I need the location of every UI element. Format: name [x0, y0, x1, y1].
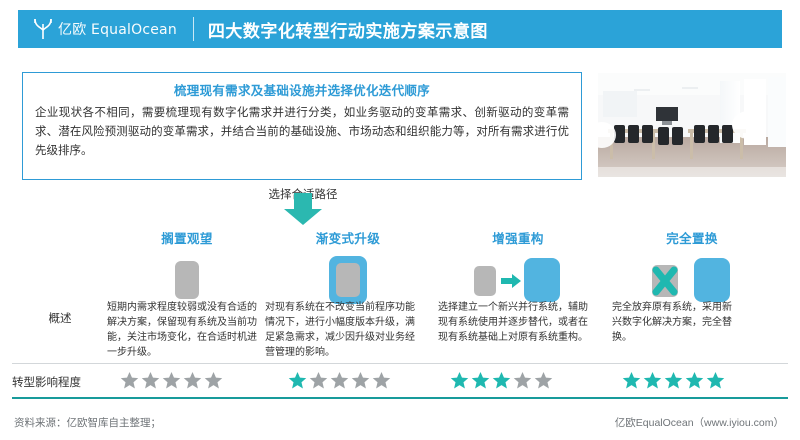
star-empty-icon — [534, 371, 553, 390]
option-title: 增强重构 — [438, 228, 598, 247]
option-column-2: 渐变式升级 — [268, 228, 428, 303]
divider-above-rating — [12, 363, 788, 364]
star-rating-4 — [622, 371, 772, 390]
intro-body: 企业现状各不相同，需要梳理现有数字化需求并进行分类，如业务驱动的变革需求、创新驱… — [35, 104, 569, 161]
star-rating-1 — [120, 371, 270, 390]
header-divider — [193, 17, 194, 41]
down-arrow-icon — [283, 193, 323, 226]
page-title: 四大数字化转型行动实施方案示意图 — [208, 17, 488, 42]
footer-source: 资料来源：亿欧智库自主整理； — [14, 415, 161, 430]
star-filled-icon — [706, 371, 725, 390]
option-column-3: 增强重构 — [438, 228, 598, 303]
grey-square-inside-blue-frame-icon — [268, 257, 428, 303]
star-filled-icon — [450, 371, 469, 390]
star-empty-icon — [204, 371, 223, 390]
option-description: 短期内需求程度较弱或没有合适的解决方案，保留现有系统及当前功能，关注市场变化，在… — [107, 300, 257, 360]
star-empty-icon — [351, 371, 370, 390]
brand-logo-text: 亿欧 EqualOcean — [58, 19, 177, 39]
star-empty-icon — [309, 371, 328, 390]
star-empty-icon — [141, 371, 160, 390]
option-title: 渐变式升级 — [268, 228, 428, 247]
star-empty-icon — [162, 371, 181, 390]
star-filled-icon — [288, 371, 307, 390]
overview-row-label: 概述 — [20, 310, 100, 326]
divider-below-rating — [12, 397, 788, 399]
option-title: 搁置观望 — [107, 228, 267, 247]
star-empty-icon — [120, 371, 139, 390]
grey-square-arrow-blue-square-icon — [438, 257, 598, 303]
rating-row-label: 转型影响程度 — [12, 374, 108, 390]
grey-square-crossed-out-blue-square-icon — [612, 257, 772, 303]
intro-title: 梳理现有需求及基础设施并选择优化迭代顺序 — [23, 80, 581, 99]
option-column-4: 完全置换 — [612, 228, 772, 303]
star-filled-icon — [471, 371, 490, 390]
star-filled-icon — [664, 371, 683, 390]
star-rating-2 — [288, 371, 438, 390]
star-empty-icon — [183, 371, 202, 390]
option-column-1: 搁置观望 — [107, 228, 267, 303]
star-rating-3 — [450, 371, 600, 390]
equalocean-tree-logo-icon — [32, 17, 54, 41]
page-header: 亿欧 EqualOcean 四大数字化转型行动实施方案示意图 — [18, 10, 782, 48]
star-filled-icon — [643, 371, 662, 390]
star-empty-icon — [330, 371, 349, 390]
grey-rounded-square-icon — [107, 257, 267, 303]
star-empty-icon — [372, 371, 391, 390]
meeting-room-photo — [598, 73, 786, 177]
option-description: 完全放弃原有系统，采用新兴数字化解决方案，完全替换。 — [612, 300, 732, 345]
star-filled-icon — [492, 371, 511, 390]
option-description: 对现有系统在不改变当前程序功能情况下，进行小幅度版本升级，满足紧急需求，减少因升… — [265, 300, 420, 360]
footer-attribution: 亿欧EqualOcean（www.iyiou.com） — [615, 415, 784, 430]
brand-logo: 亿欧 EqualOcean — [18, 17, 177, 41]
star-filled-icon — [685, 371, 704, 390]
star-filled-icon — [622, 371, 641, 390]
option-title: 完全置换 — [612, 228, 772, 247]
star-empty-icon — [513, 371, 532, 390]
option-description: 选择建立一个新兴并行系统，辅助现有系统使用并逐步替代，或者在现有系统基础上对原有… — [438, 300, 588, 345]
intro-panel: 梳理现有需求及基础设施并选择优化迭代顺序 企业现状各不相同，需要梳理现有数字化需… — [22, 72, 582, 180]
